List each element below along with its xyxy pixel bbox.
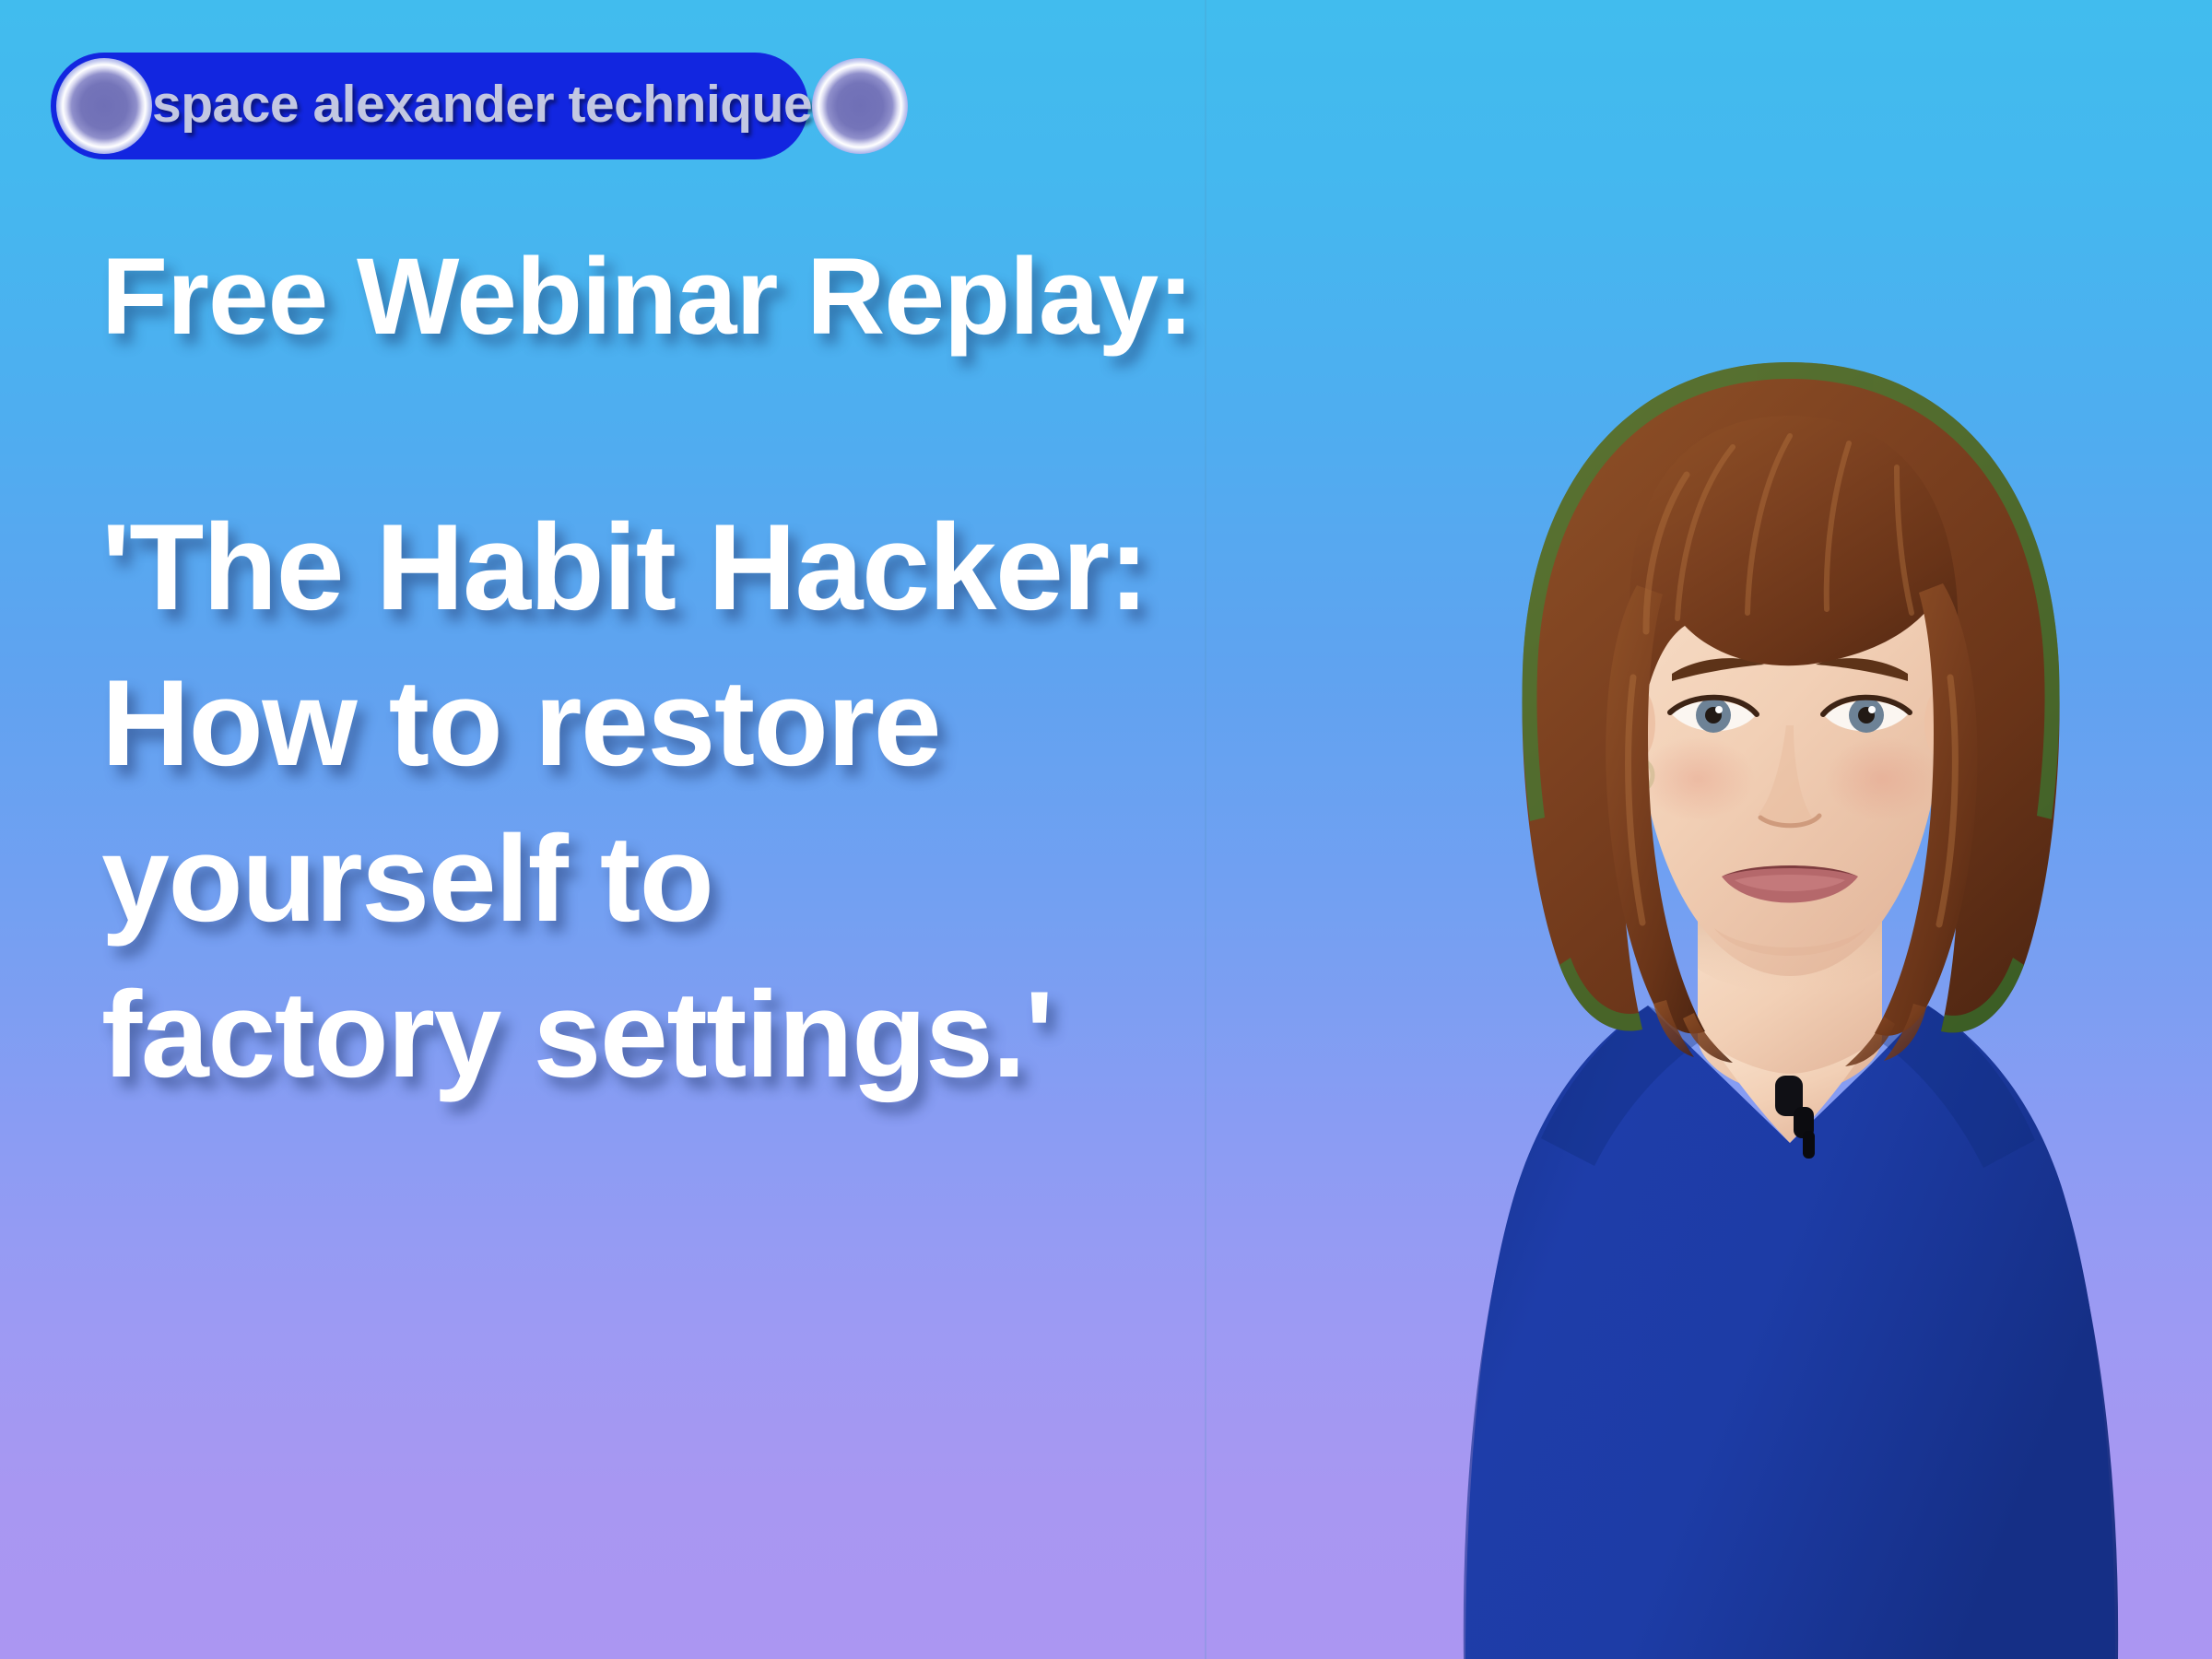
headline-line-3: yourself to [101,802,1410,958]
eyebrow-text: Free Webinar Replay: [101,241,1410,352]
headline-line-2: How to restore [101,646,1410,802]
headline-line-1: 'The Habit Hacker: [101,490,1410,646]
copy-block: Free Webinar Replay: 'The Habit Hacker: … [101,241,1410,1113]
webinar-replay-slide: space alexander technique Free Webinar R… [0,0,2212,1659]
headline-line-4: factory settings.' [101,958,1410,1113]
presenter-portrait [1281,309,2212,1659]
brand-badge[interactable]: space alexander technique [51,53,808,159]
glowing-orb-left-icon [56,58,152,154]
brand-badge-label: space alexander technique [152,78,812,134]
page-title: 'The Habit Hacker: How to restore yourse… [101,490,1410,1113]
glowing-orb-right-icon [812,58,908,154]
